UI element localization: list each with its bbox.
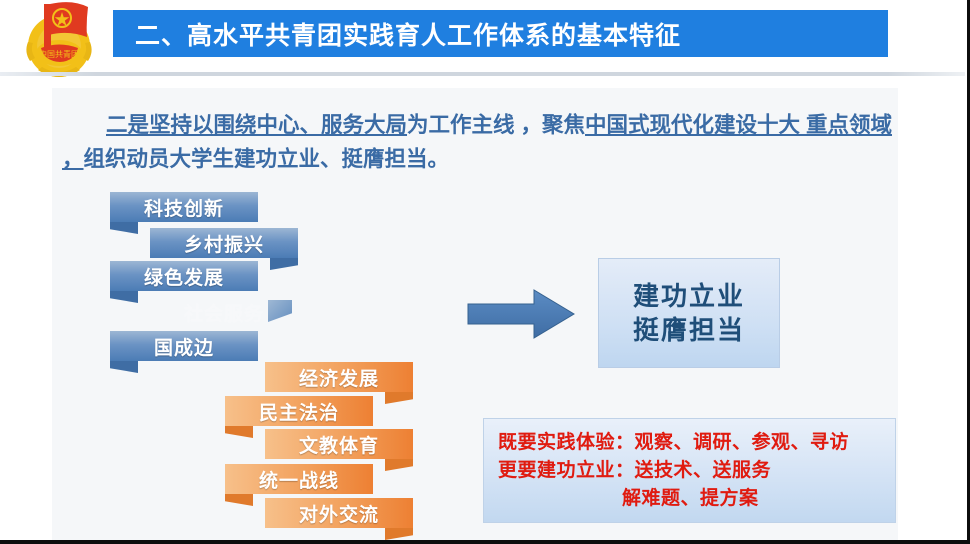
banner-tongyi-zhanxian[interactable]: 统一战线 <box>225 464 373 494</box>
banner-label: 乡村振兴 <box>184 230 264 257</box>
banner-xiangcun-zhenxing[interactable]: 乡村振兴 <box>150 228 298 258</box>
note-line-2: 更要建功立业：送技术、送服务 <box>498 457 895 485</box>
goal-line-1: 建功立业 <box>633 279 745 313</box>
banner-jingji-fazhan[interactable]: 经济发展 <box>265 362 413 392</box>
banner-duiwai-jiaoliu[interactable]: 对外交流 <box>265 498 413 528</box>
banner-label: 民主法治 <box>259 398 339 425</box>
banner-label: 科技创新 <box>144 194 224 221</box>
page-title: 二、高水平共青团实践育人工作体系的基本特征 <box>113 16 681 52</box>
banner-label: 统一战线 <box>259 466 339 493</box>
banner-label: 对外交流 <box>299 500 379 527</box>
banner-label: 社会服务 <box>184 299 264 326</box>
header-divider <box>0 72 965 76</box>
banner-keji-chuangxin[interactable]: 科技创新 <box>110 192 258 222</box>
svg-text:中国共青团: 中国共青团 <box>39 49 79 59</box>
paragraph-segment-1: 二是坚持以 <box>106 113 214 137</box>
goal-line-2: 挺膺担当 <box>633 313 745 347</box>
banner-label: 国成边 <box>154 333 214 360</box>
banner-label: 文教体育 <box>299 431 379 458</box>
note-callout-box: 既要实践体验：观察、调研、参观、寻访 更要建功立业：送技术、送服务 解难题、提方… <box>483 418 896 523</box>
banner-label: 经济发展 <box>299 364 379 391</box>
slide-canvas: 中国共青团 二、高水平共青团实践育人工作体系的基本特征 二是坚持以围绕中心、服务… <box>0 0 970 544</box>
banner-lvse-fazhan[interactable]: 绿色发展 <box>110 261 258 291</box>
banner-wenjiao-tiyu[interactable]: 文教体育 <box>265 429 413 459</box>
goal-callout-box: 建功立业 挺膺担当 <box>598 258 780 368</box>
paragraph-segment-3: 为工作主线 ，聚焦 <box>407 113 585 137</box>
slide-header: 中国共青团 二、高水平共青团实践育人工作体系的基本特征 <box>0 0 965 80</box>
banner-guo-shu-bian[interactable]: 国成边 <box>110 331 258 361</box>
paragraph-segment-2: 围绕中心、服务大局 <box>214 113 408 137</box>
banner-label: 绿色发展 <box>144 263 224 290</box>
paragraph-segment-5: 组织动员大学生建功立业、挺膺担当。 <box>84 147 450 171</box>
note-line-3: 解难题、提方案 <box>498 485 895 513</box>
section-title-bar: 二、高水平共青团实践育人工作体系的基本特征 <box>113 10 888 57</box>
banner-minzhu-fazhi[interactable]: 民主法治 <box>225 396 373 426</box>
body-paragraph: 二是坚持以围绕中心、服务大局为工作主线 ，聚焦中国式现代化建设十大 重点领域 ，… <box>62 108 892 176</box>
right-arrow-icon <box>466 288 576 340</box>
note-line-1: 既要实践体验：观察、调研、参观、寻访 <box>498 429 895 457</box>
